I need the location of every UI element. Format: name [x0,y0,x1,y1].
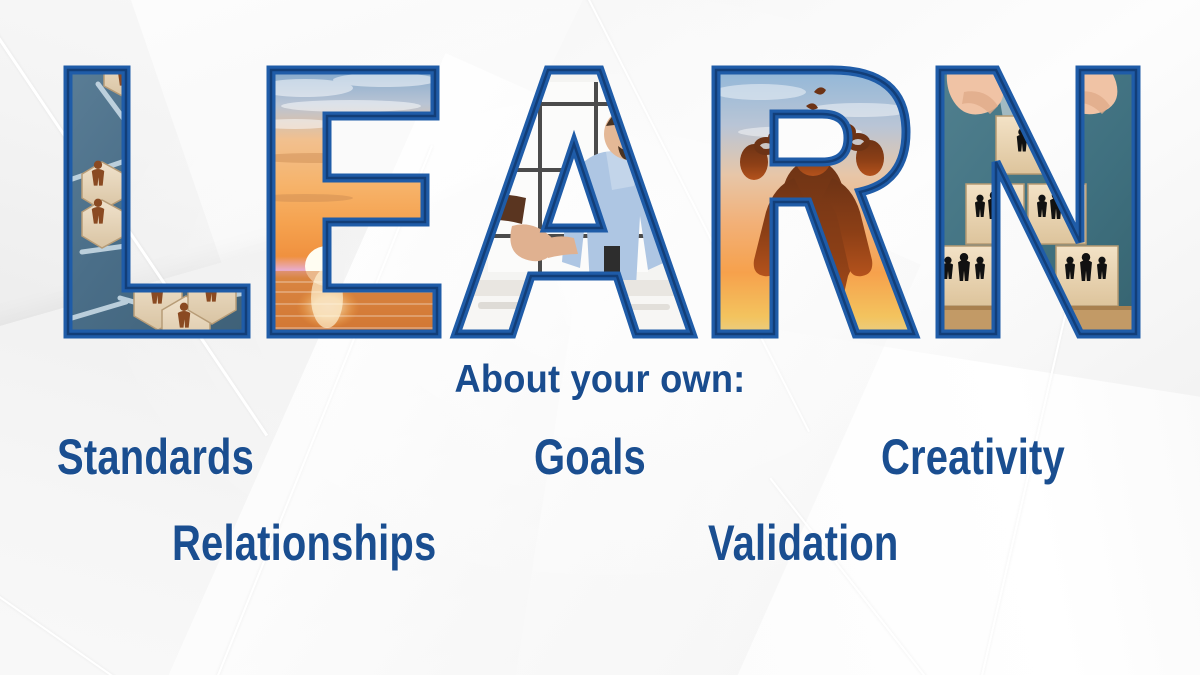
letter-L: L Wooden hexagon tiles printed with pers… [62,66,252,338]
keyword-relationships: Relationships [172,514,436,572]
letter-N: N A hand placing a wooden block printed … [934,66,1142,338]
letter-E: E Golden sun setting over the ocean with… [265,66,440,338]
letter-E-artwork [265,66,440,338]
letter-A: A Bearded man in a light blue shirt shak… [454,66,694,338]
letter-R-artwork [710,66,915,338]
banner-canvas: L Wooden hexagon tiles printed with pers… [0,0,1200,675]
letter-R: R Silhouette of a person raising arms an… [710,66,915,338]
letter-N-artwork [934,66,1142,338]
keyword-creativity: Creativity [881,428,1065,486]
learn-wordmark: L Wooden hexagon tiles printed with pers… [62,66,1142,338]
keyword-validation: Validation [708,514,899,572]
subheading-about-your-own: About your own: [42,358,1158,402]
letter-A-artwork [454,66,694,338]
keyword-standards: Standards [57,428,254,486]
keyword-goals: Goals [534,428,646,486]
letter-L-artwork [62,66,252,338]
